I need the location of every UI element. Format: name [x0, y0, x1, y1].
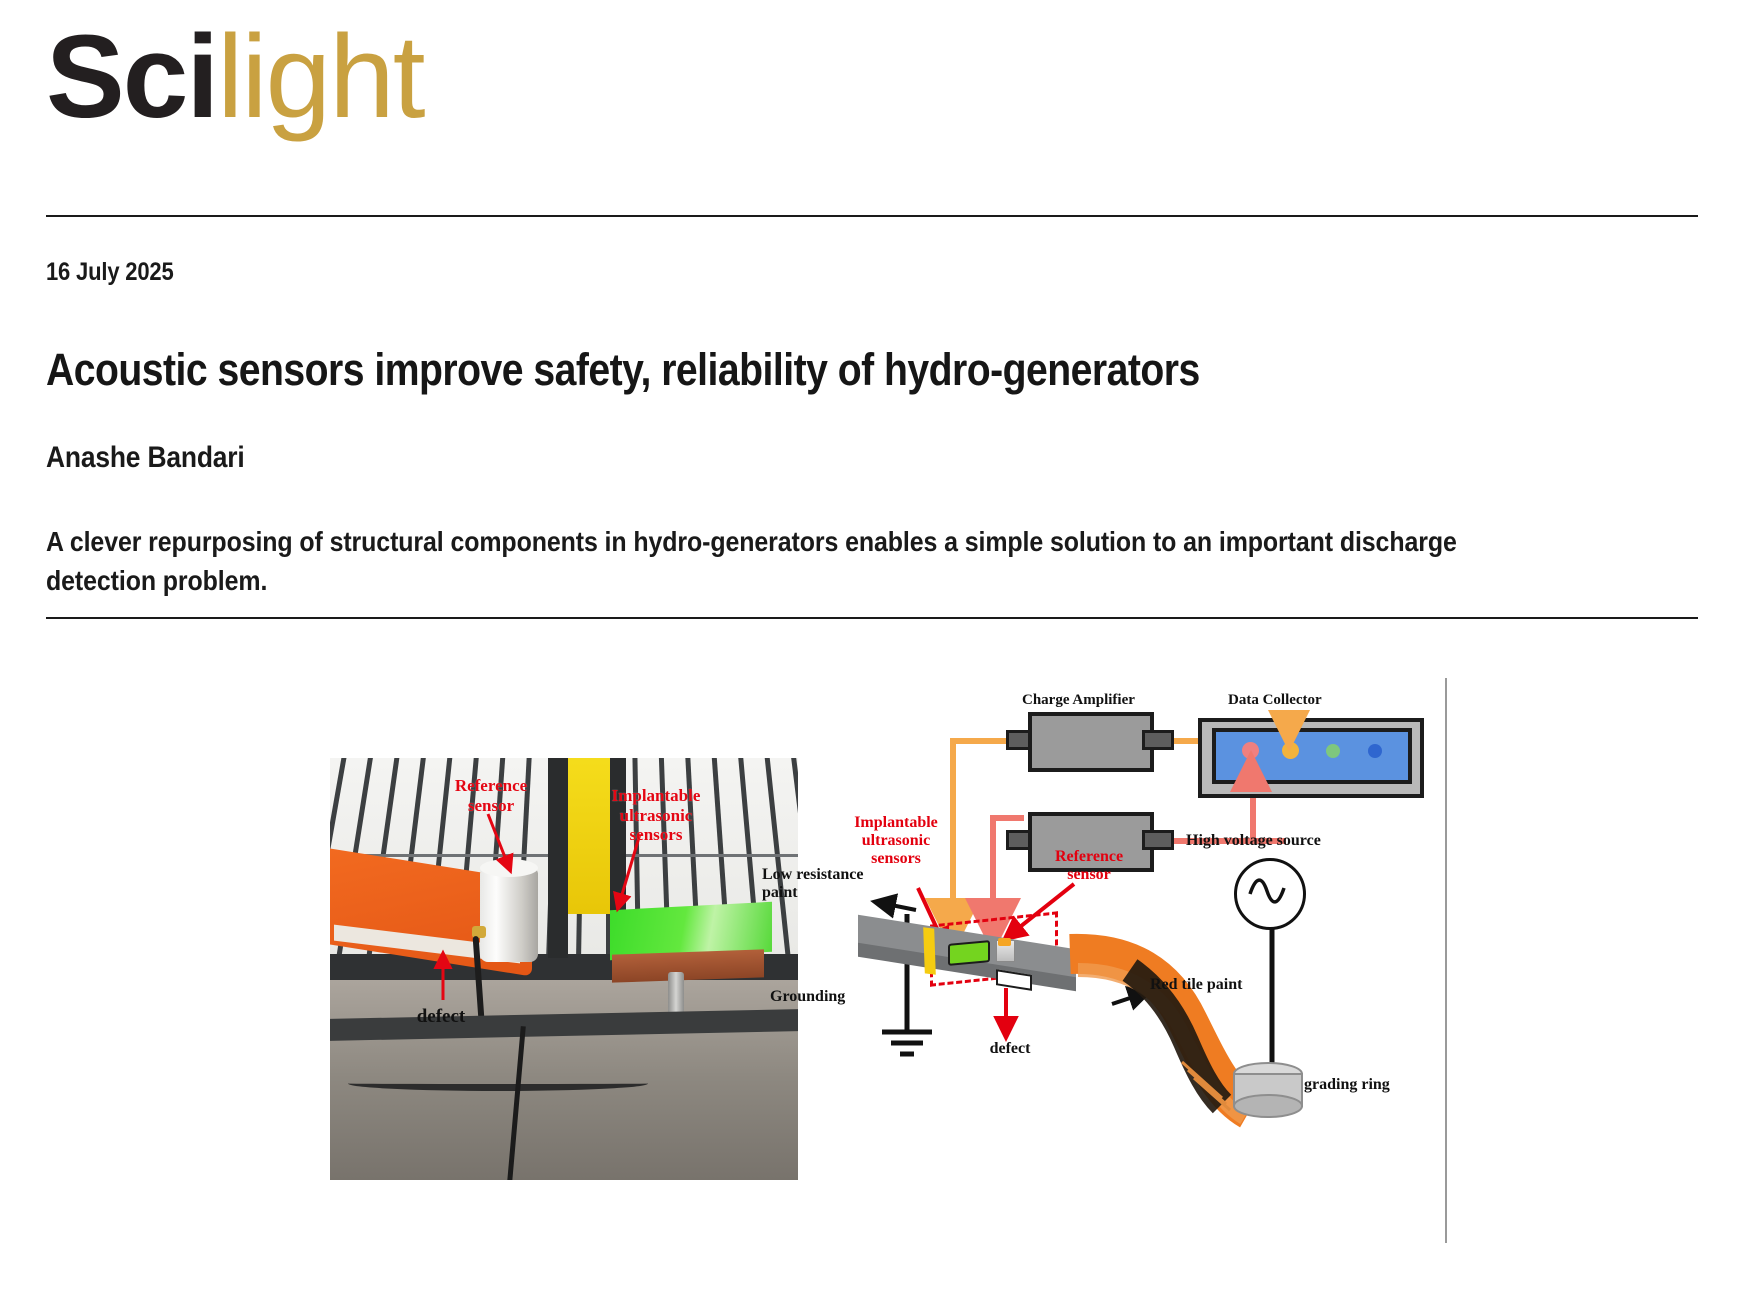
header-divider [46, 215, 1698, 217]
figure-panel-divider [1445, 678, 1447, 1243]
publish-date: 16 July 2025 [46, 258, 1472, 287]
experiment-photograph: Reference sensor Implantable ultrasonic … [330, 758, 798, 1180]
label-implantable-sensors: Implantable ultrasonic sensors [844, 814, 948, 869]
logo-text-light: light [217, 11, 423, 143]
label-red-tile-paint: Red tile paint [1150, 976, 1282, 994]
label-grading-ring: grading ring [1304, 1076, 1424, 1094]
article-headline: Acoustic sensors improve safety, reliabi… [46, 345, 1455, 395]
article-header: 16 July 2025 Acoustic sensors improve sa… [46, 258, 1666, 601]
logo-text-sci: Sci [46, 11, 217, 143]
article-figure: Reference sensor Implantable ultrasonic … [330, 670, 1450, 1260]
label-grounding: Grounding [770, 988, 888, 1006]
curved-stator-bar [830, 670, 1442, 1250]
scilight-logo[interactable]: Scilight [46, 18, 1698, 136]
label-defect: defect [970, 1040, 1050, 1058]
photo-annotation-arrows [330, 758, 798, 1180]
article-author[interactable]: Anashe Bandari [46, 441, 1472, 475]
site-masthead: Scilight [46, 18, 1698, 136]
experiment-schematic: Charge Amplifier Data Collector [830, 670, 1442, 1250]
photo-label-defect: defect [386, 1006, 496, 1028]
ac-waveform-icon [1234, 858, 1300, 924]
article-standfirst: A clever repurposing of structural compo… [46, 523, 1488, 600]
label-low-resistance-paint: Low resistance paint [762, 866, 898, 902]
article-divider [46, 617, 1698, 619]
photo-label-implantable-sensors: Implantable ultrasonic sensors [606, 786, 706, 845]
label-high-voltage-source: High voltage source [1186, 832, 1386, 850]
label-reference-sensor: Reference sensor [1042, 848, 1136, 884]
photo-label-reference-sensor: Reference sensor [442, 776, 540, 815]
scilight-article-page: Scilight 16 July 2025 Acoustic sensors i… [0, 0, 1746, 1302]
